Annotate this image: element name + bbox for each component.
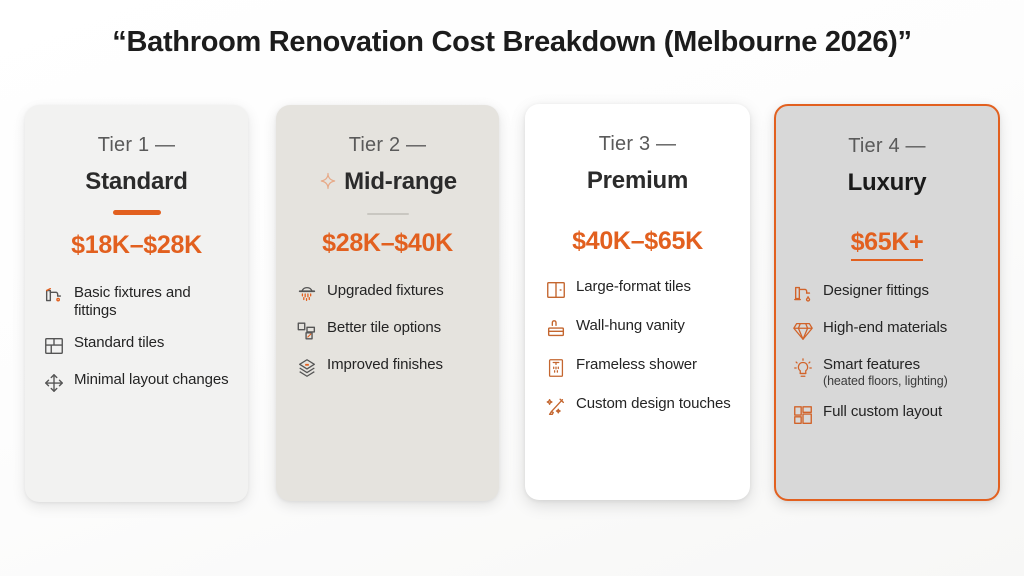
tier-name: Premium (587, 167, 688, 195)
list-item[interactable]: Improved finishes (296, 356, 483, 379)
list-item[interactable]: Custom design touches (545, 395, 734, 418)
tier-name: Mid-range (344, 168, 457, 196)
list-item-label: Improved finishes (327, 356, 443, 374)
list-item-label: High-end materials (823, 319, 947, 337)
list-item-label: Designer fittings (823, 282, 929, 300)
tile-options-icon (296, 320, 318, 342)
tiles-icon (43, 335, 65, 357)
designer-tap-icon (792, 283, 814, 305)
list-item-label-main: Smart features (823, 356, 920, 373)
tier-price-value: $18K–$28K (71, 231, 202, 259)
list-item-label: Large-format tiles (576, 278, 691, 296)
list-item-sublabel: (heated floors, lighting) (823, 374, 948, 389)
tier-card-2[interactable]: Tier 2 — Mid-range $28K–$40K (276, 105, 499, 501)
feature-list: Basic fixtures and fittings Standard til… (25, 284, 248, 394)
large-format-tiles-icon (545, 279, 567, 301)
list-item[interactable]: Better tile options (296, 319, 483, 342)
pricing-tier-cards: Tier 1 — Standard $18K–$28K Basic fixtur… (0, 104, 1024, 504)
tier-divider (367, 213, 409, 215)
list-item-label: Wall-hung vanity (576, 317, 685, 335)
sparkle-icon (318, 171, 338, 193)
tier-name-row: Luxury (776, 169, 998, 197)
page-title: “Bathroom Renovation Cost Breakdown (Mel… (0, 26, 1024, 59)
list-item[interactable]: Upgraded fixtures (296, 282, 483, 305)
list-item-label: Basic fixtures and fittings (74, 284, 232, 320)
magic-wand-icon (545, 396, 567, 418)
tier-name-row: Mid-range (276, 168, 499, 196)
list-item-label: Upgraded fixtures (327, 282, 444, 300)
tier-price: $28K–$40K (276, 229, 499, 258)
tier-price-value: $65K+ (851, 228, 924, 261)
feature-list: Upgraded fixtures Better tile options (276, 282, 499, 379)
tier-name: Standard (85, 168, 187, 196)
lightbulb-icon (792, 357, 814, 379)
tier-label: Tier 1 — (25, 134, 248, 157)
tier-name-row: Premium (525, 167, 750, 195)
diamond-icon (792, 320, 814, 342)
list-item[interactable]: Frameless shower (545, 356, 734, 379)
list-item-label: Smart features (heated floors, lighting) (823, 356, 948, 389)
feature-list: Designer fittings High-end materials (776, 282, 998, 426)
tier-card-4[interactable]: Tier 4 — Luxury $65K+ Designer (774, 104, 1000, 501)
list-item[interactable]: Designer fittings (792, 282, 982, 305)
tier-label: Tier 2 — (276, 134, 499, 157)
tier-name-row: Standard (25, 168, 248, 196)
list-item[interactable]: Full custom layout (792, 403, 982, 426)
list-item[interactable]: Basic fixtures and fittings (43, 284, 232, 320)
list-item-label: Standard tiles (74, 334, 164, 352)
tier-price: $40K–$65K (525, 227, 750, 256)
tier-price-value: $40K–$65K (572, 227, 703, 255)
list-item[interactable]: Wall-hung vanity (545, 317, 734, 340)
tier-name: Luxury (848, 169, 927, 197)
list-item-label: Full custom layout (823, 403, 942, 421)
tier-card-3[interactable]: Tier 3 — Premium $40K–$65K Large-format … (525, 104, 750, 500)
list-item[interactable]: Standard tiles (43, 334, 232, 357)
shower-head-icon (296, 283, 318, 305)
feature-list: Large-format tiles Wall-hung vanity (525, 278, 750, 418)
list-item[interactable]: Smart features (heated floors, lighting) (792, 356, 982, 389)
list-item-label: Frameless shower (576, 356, 697, 374)
slide-canvas: “Bathroom Renovation Cost Breakdown (Mel… (0, 0, 1024, 576)
layers-icon (296, 357, 318, 379)
list-item-label: Better tile options (327, 319, 441, 337)
tier-label: Tier 4 — (776, 135, 998, 158)
list-item-label: Minimal layout changes (74, 371, 229, 389)
list-item-label: Custom design touches (576, 395, 731, 413)
layout-grid-icon (792, 404, 814, 426)
list-item[interactable]: Large-format tiles (545, 278, 734, 301)
faucet-icon (43, 285, 65, 307)
move-arrows-icon (43, 372, 65, 394)
tier-price: $65K+ (776, 228, 998, 261)
tier-price: $18K–$28K (25, 231, 248, 260)
tier-card-1[interactable]: Tier 1 — Standard $18K–$28K Basic fixtur… (25, 105, 248, 502)
vanity-sink-icon (545, 318, 567, 340)
frameless-shower-icon (545, 357, 567, 379)
tier-divider (113, 210, 161, 215)
list-item[interactable]: Minimal layout changes (43, 371, 232, 394)
tier-label: Tier 3 — (525, 133, 750, 156)
list-item[interactable]: High-end materials (792, 319, 982, 342)
tier-price-value: $28K–$40K (322, 229, 453, 257)
